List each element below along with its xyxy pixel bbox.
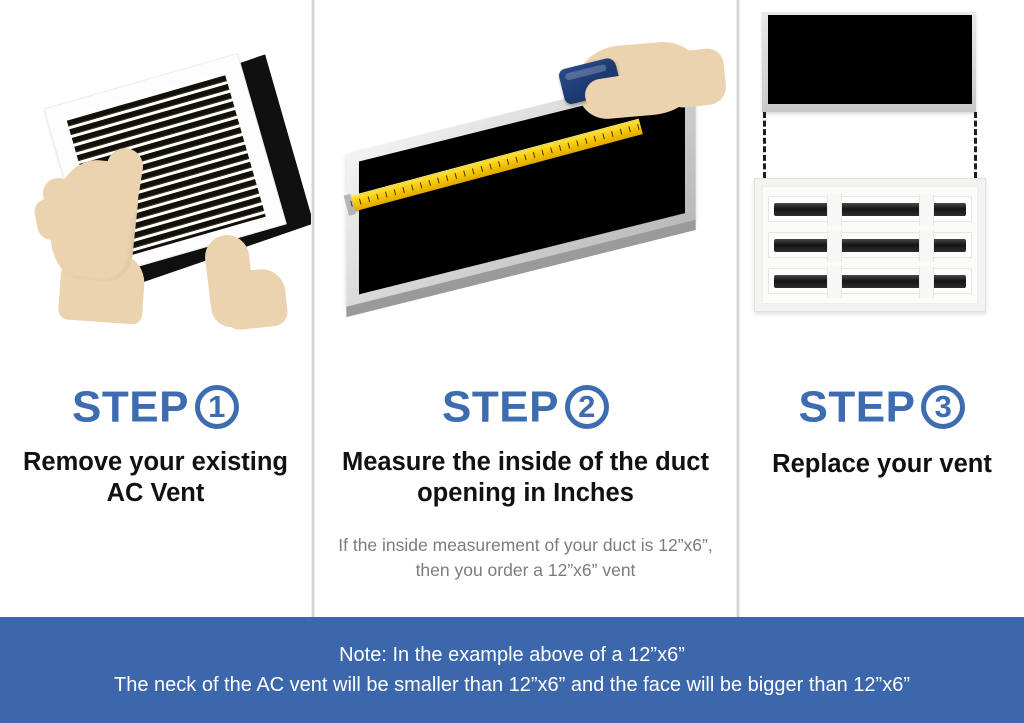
duct-rim	[762, 12, 976, 112]
step-column-3: STEP3 Replace your vent	[740, 0, 1024, 617]
step-word: STEP	[72, 382, 189, 431]
step-3-heading: STEP3	[740, 383, 1024, 429]
step-2-heading: STEP2	[315, 383, 736, 429]
vent-inner-frame	[762, 186, 978, 304]
vent-divider-post	[919, 194, 934, 226]
step-number-badge: 1	[195, 385, 239, 429]
louver-bar	[774, 203, 966, 216]
vent-divider-post	[919, 266, 934, 298]
vent-install-alignment-illustration	[740, 0, 1024, 370]
vent-divider-post	[827, 230, 842, 262]
step-number-badge: 2	[565, 385, 609, 429]
step-2-title: Measure the inside of the duct opening i…	[315, 447, 736, 509]
alignment-dashed-line	[974, 112, 977, 178]
vent-louver-row	[768, 268, 972, 294]
replacement-vent-graphic	[754, 178, 986, 312]
vent-divider-post	[827, 194, 842, 226]
step-word: STEP	[442, 382, 559, 431]
step-column-2: STEP2 Measure the inside of the duct ope…	[315, 0, 736, 617]
vent-divider-post	[827, 266, 842, 298]
step-column-1: STEP1 Remove your existing AC Vent	[0, 0, 311, 617]
hands-removing-vent-illustration	[0, 0, 311, 370]
step-3-title: Replace your vent	[740, 449, 1024, 480]
step-number-badge: 3	[921, 385, 965, 429]
step-1-title: Remove your existing AC Vent	[0, 447, 311, 509]
step-1-heading: STEP1	[0, 383, 311, 429]
infographic-page: STEP1 Remove your existing AC Vent	[0, 0, 1024, 723]
vent-louver-row	[768, 232, 972, 258]
alignment-dashed-line	[763, 112, 766, 178]
louver-bar	[774, 275, 966, 288]
vent-divider-post	[919, 230, 934, 262]
duct-hole	[768, 15, 972, 104]
step-2-note: If the inside measurement of your duct i…	[315, 533, 736, 583]
note-banner-line-2: The neck of the AC vent will be smaller …	[114, 670, 910, 700]
vent-louver-row	[768, 196, 972, 222]
duct-opening-graphic	[762, 12, 976, 112]
louver-bar	[774, 239, 966, 252]
note-banner: Note: In the example above of a 12”x6” T…	[0, 617, 1024, 723]
step-word: STEP	[799, 382, 916, 431]
tape-measure-duct-opening-illustration	[315, 0, 736, 370]
note-banner-line-1: Note: In the example above of a 12”x6”	[339, 640, 685, 670]
